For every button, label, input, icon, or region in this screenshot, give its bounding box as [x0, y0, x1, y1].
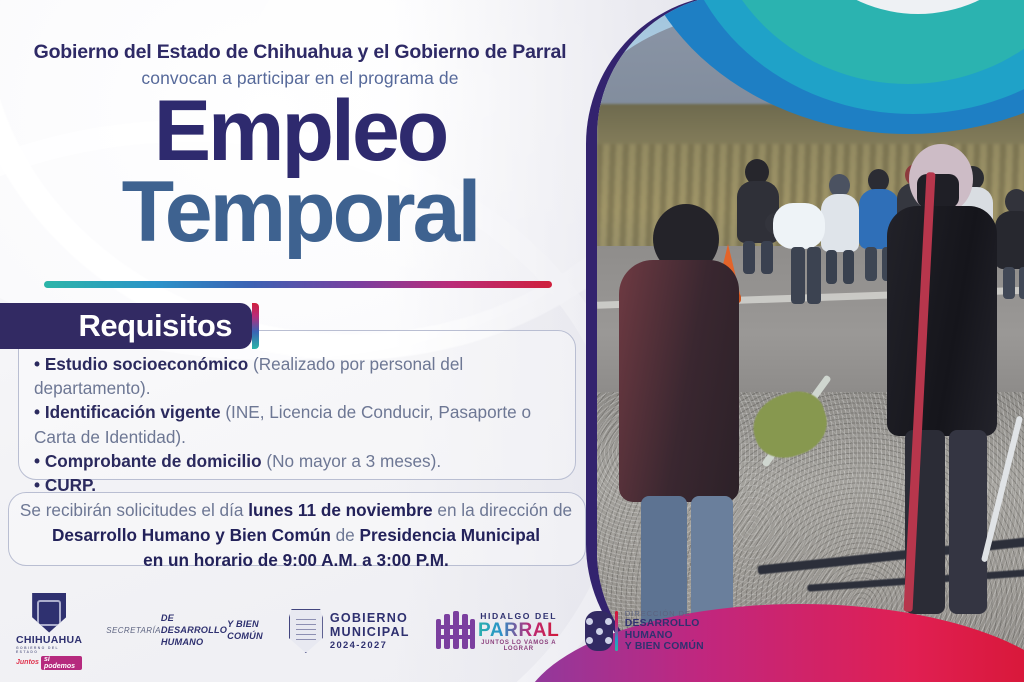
gobierno-municipal-line-2: MUNICIPAL — [330, 626, 410, 640]
photo-panel — [586, 0, 1024, 682]
footer-logos: CHIHUAHUA GOBIERNO DEL ESTADO Juntos sí … — [0, 596, 600, 666]
shield-icon — [32, 593, 66, 633]
gobierno-municipal-text: GOBIERNO MUNICIPAL 2024-2027 — [330, 612, 410, 650]
logo-chihuahua-name: CHIHUAHUA — [16, 634, 82, 646]
direccion-line-2: DESARROLLO HUMANO — [625, 618, 713, 641]
photo-person-bg-6 — [995, 189, 1024, 299]
note-hours: en un horario de 9:00 A.M. a 3:00 P.M. — [143, 550, 449, 570]
tagline-part-1: Juntos — [16, 659, 39, 666]
note-date: lunes 11 de noviembre — [248, 500, 432, 520]
title-line-2: Temporal — [0, 171, 600, 254]
photo-person-foreground-right — [887, 144, 997, 614]
requirement-bold-2: Comprobante de domicilio — [45, 451, 262, 471]
bullet-icon: • — [34, 354, 40, 374]
bullet-icon: • — [34, 451, 40, 471]
logo-chihuahua-tagline: Juntos sí podemos — [16, 656, 82, 670]
tagline-part-2: sí podemos — [41, 656, 82, 670]
note-part-2: en la dirección de — [433, 500, 573, 520]
header-kicker: Gobierno del Estado de Chihuahua y el Go… — [0, 41, 600, 64]
note-part-3: de — [331, 525, 360, 545]
logo-chihuahua-sub: GOBIERNO DEL ESTADO — [16, 646, 82, 654]
content-panel: Gobierno del Estado de Chihuahua y el Go… — [0, 0, 640, 682]
logo-direccion: DIRECCIÓN DE DESARROLLO HUMANO Y BIEN CO… — [585, 609, 713, 653]
requirements-tab-stripe — [252, 303, 259, 349]
secretaria-line-3: Y BIEN COMÚN — [227, 619, 263, 643]
page-title: Empleo Temporal — [0, 92, 600, 254]
parral-line-3: JUNTOS LO VAMOS A LOGRAR — [474, 640, 563, 652]
direccion-stripe — [615, 611, 618, 651]
logo-gobierno-municipal: GOBIERNO MUNICIPAL 2024-2027 — [289, 609, 410, 653]
list-item: • Comprobante de domicilio (No mayor a 3… — [34, 449, 574, 473]
parral-text: HIDALGO DEL PARRAL JUNTOS LO VAMOS A LOG… — [474, 611, 563, 652]
parral-line-1: HIDALGO DEL — [474, 611, 563, 621]
secretaria-line-2: DE DESARROLLO HUMANO — [161, 613, 227, 648]
network-icon — [585, 611, 613, 651]
note-department: Desarrollo Humano y Bien Común — [52, 525, 331, 545]
requirements-tab: Requisitos — [0, 303, 252, 349]
gradient-divider — [44, 281, 552, 288]
shield-inner-icon — [37, 600, 61, 626]
direccion-line-3: Y BIEN COMÚN — [625, 641, 713, 653]
photo-person-bg-2 — [821, 174, 859, 284]
title-line-1: Empleo — [0, 92, 600, 171]
coat-of-arms-icon — [289, 609, 323, 653]
poster: Gobierno del Estado de Chihuahua y el Go… — [0, 0, 1024, 682]
photo-person-bending — [765, 199, 825, 304]
secretaria-line-1: SECRETARÍA — [106, 626, 161, 636]
note-part-1: Se recibirán solicitudes el día — [20, 500, 248, 520]
gobierno-municipal-years: 2024-2027 — [330, 639, 410, 650]
logo-chihuahua: CHIHUAHUA GOBIERNO DEL ESTADO Juntos sí … — [16, 593, 82, 670]
network-nodes-icon — [586, 618, 612, 644]
footer-divider — [90, 612, 98, 649]
note-place: Presidencia Municipal — [360, 525, 541, 545]
requirements-tab-label: Requisitos — [79, 308, 232, 344]
requirement-bold-1: Identificación vigente — [45, 402, 221, 422]
requirement-rest-2: (No mayor a 3 meses). — [262, 451, 442, 471]
photo-image — [597, 0, 1024, 682]
note-text: Se recibirán solicitudes el día lunes 11… — [8, 498, 584, 573]
requirement-bold-0: Estudio socioeconómico — [45, 354, 248, 374]
bullet-icon: • — [34, 402, 40, 422]
logo-parral: HIDALGO DEL PARRAL JUNTOS LO VAMOS A LOG… — [434, 611, 563, 652]
list-item: • Identificación vigente (INE, Licencia … — [34, 400, 574, 448]
logo-secretaria: SECRETARÍA DE DESARROLLO HUMANO Y BIEN C… — [106, 613, 263, 648]
list-item: • Estudio socioeconómico (Realizado por … — [34, 352, 574, 400]
parral-line-2: PARRAL — [474, 621, 563, 640]
gobierno-municipal-line-1: GOBIERNO — [330, 612, 410, 626]
requirements-list: • Estudio socioeconómico (Realizado por … — [34, 352, 574, 497]
direccion-text: DIRECCIÓN DE DESARROLLO HUMANO Y BIEN CO… — [625, 609, 713, 653]
bridge-icon — [434, 611, 469, 651]
direccion-line-1: DIRECCIÓN DE — [625, 609, 713, 618]
